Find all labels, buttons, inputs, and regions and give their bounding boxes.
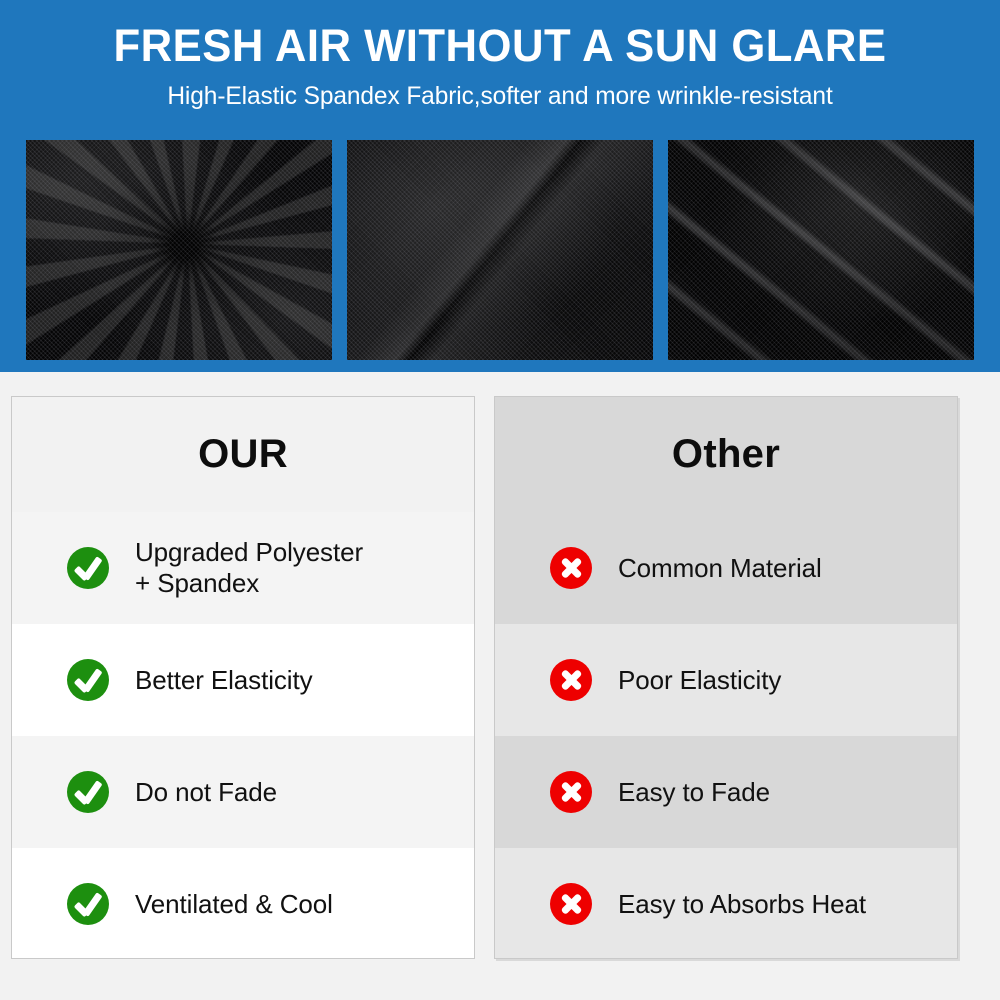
cross-circle-icon [550,547,592,589]
table-row: Do not Fade [12,736,474,848]
fabric-photo-swirled-mesh [26,140,332,360]
panel-header-other: Other [495,397,957,512]
page-subtitle: High-Elastic Spandex Fabric,softer and m… [10,70,990,111]
cross-circle-icon [550,883,592,925]
check-circle-icon [67,771,109,813]
feature-label: Do not Fade [135,777,277,808]
page-title: FRESH AIR WITHOUT A SUN GLARE [15,0,985,70]
check-circle-icon [67,547,109,589]
fabric-photo-folded-mesh [347,140,653,360]
feature-label: Common Material [618,553,822,584]
table-row: Easy to Fade [495,736,957,848]
check-circle-icon [67,659,109,701]
feature-label: Ventilated & Cool [135,889,333,920]
fabric-photo-strip [26,140,974,360]
comparison-panel-other: Other Common Material Poor Elasticity Ea… [494,396,958,959]
feature-label: Easy to Fade [618,777,770,808]
table-row: Better Elasticity [12,624,474,736]
cross-circle-icon [550,771,592,813]
header-banner: FRESH AIR WITHOUT A SUN GLARE High-Elast… [0,0,1000,372]
feature-label: Upgraded Polyester + Spandex [135,537,363,598]
table-row: Upgraded Polyester + Spandex [12,512,474,624]
panel-title-our: OUR [198,432,288,477]
feature-label: Poor Elasticity [618,665,781,696]
fabric-photo-layered-mesh [668,140,974,360]
table-row: Easy to Absorbs Heat [495,848,957,959]
panel-header-our: OUR [12,397,474,512]
check-circle-icon [67,883,109,925]
table-row: Poor Elasticity [495,624,957,736]
table-row: Ventilated & Cool [12,848,474,959]
feature-label: Easy to Absorbs Heat [618,889,866,920]
panel-title-other: Other [672,432,780,477]
mesh-weave-overlay [26,140,332,360]
table-row: Common Material [495,512,957,624]
feature-label: Better Elasticity [135,665,312,696]
comparison-section: OUR Upgraded Polyester + Spandex Better … [0,372,1000,1000]
comparison-panel-our: OUR Upgraded Polyester + Spandex Better … [11,396,475,959]
mesh-weave-overlay [347,140,653,360]
cross-circle-icon [550,659,592,701]
mesh-weave-overlay [668,140,974,360]
